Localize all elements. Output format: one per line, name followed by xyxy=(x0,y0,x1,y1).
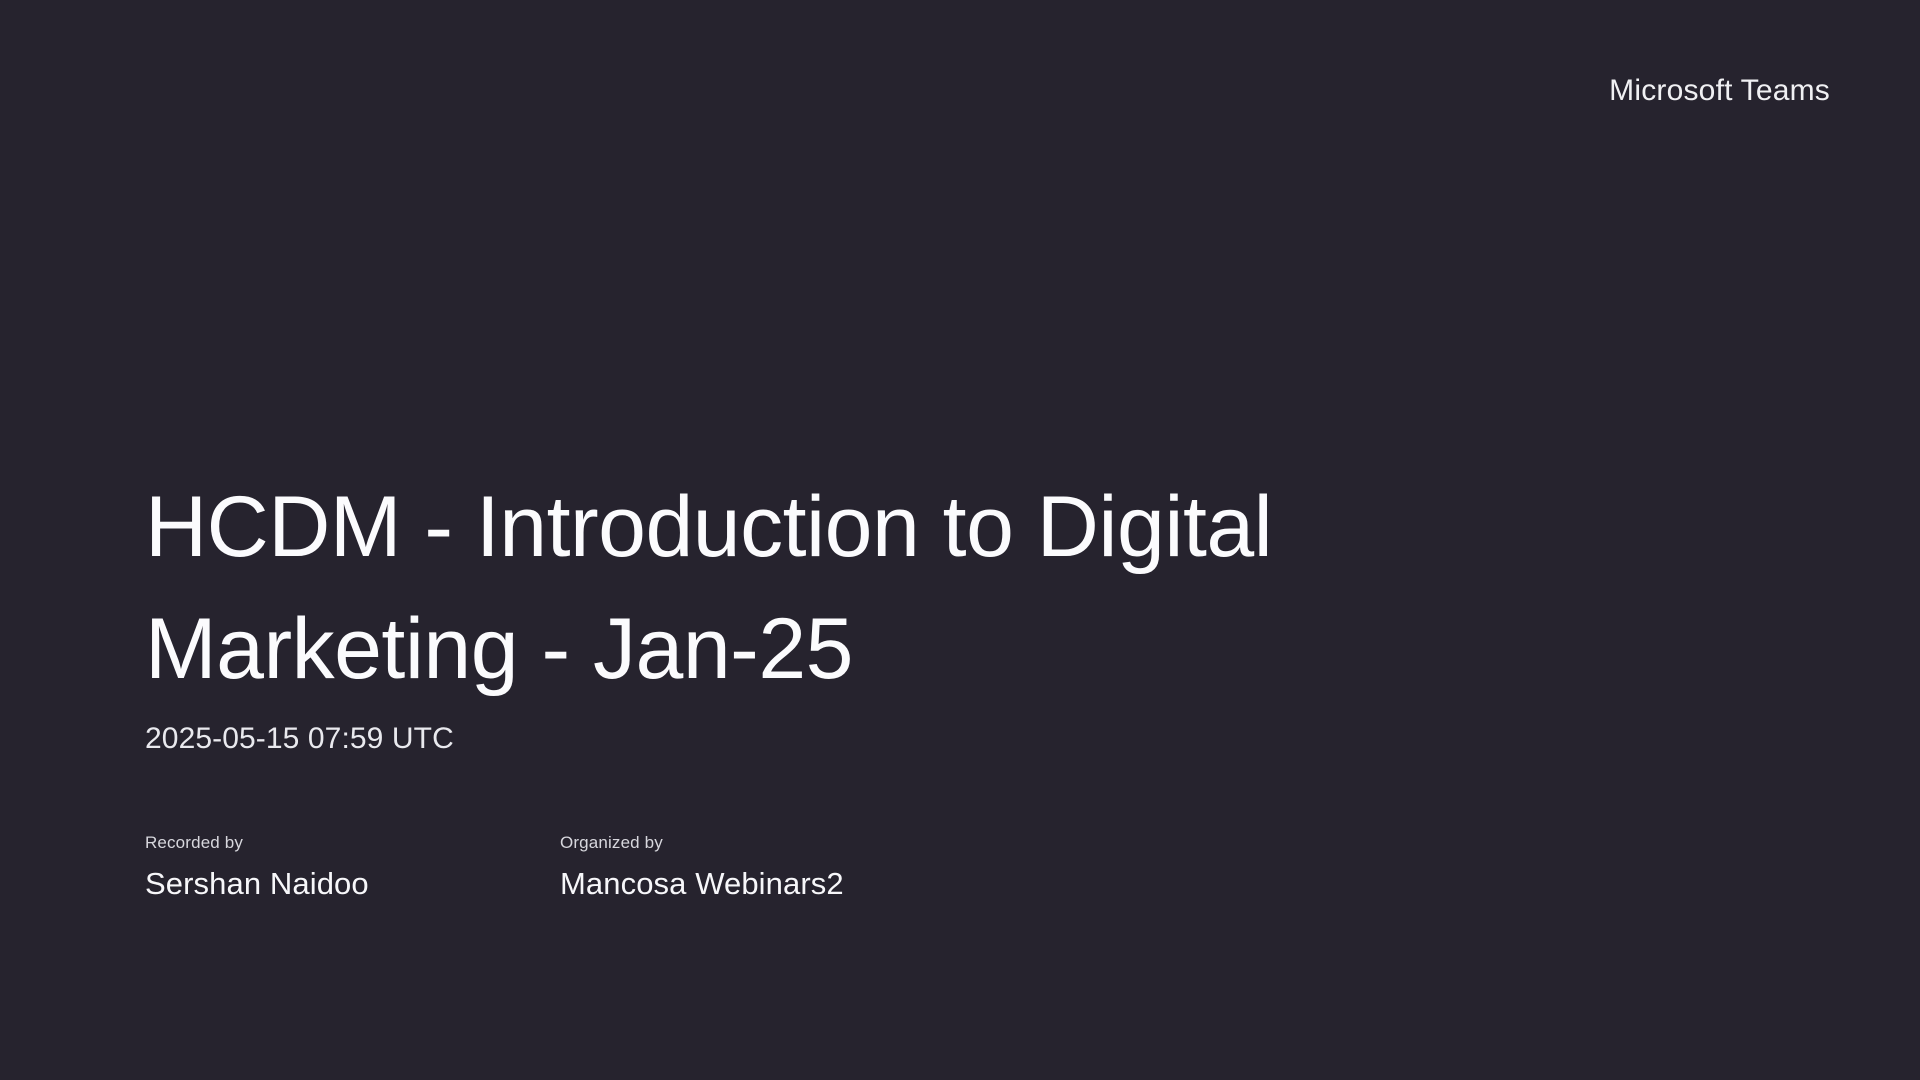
credit-recorded-by-label: Recorded by xyxy=(145,832,560,854)
recording-credits: Recorded by Sershan Naidoo Organized by … xyxy=(145,832,844,903)
recording-header: HCDM - Introduction to Digital Marketing… xyxy=(145,466,1485,758)
recording-title-slide: Microsoft Teams HCDM - Introduction to D… xyxy=(0,0,1920,1080)
credit-organized-by: Organized by Mancosa Webinars2 xyxy=(560,832,844,903)
credit-organized-by-value: Mancosa Webinars2 xyxy=(560,865,844,903)
credit-recorded-by: Recorded by Sershan Naidoo xyxy=(145,832,560,903)
recording-title: HCDM - Introduction to Digital Marketing… xyxy=(145,466,1425,710)
credit-organized-by-label: Organized by xyxy=(560,832,844,854)
recording-timestamp: 2025-05-15 07:59 UTC xyxy=(145,720,1485,758)
credit-recorded-by-value: Sershan Naidoo xyxy=(145,865,560,903)
microsoft-teams-brand-label: Microsoft Teams xyxy=(1609,76,1830,106)
